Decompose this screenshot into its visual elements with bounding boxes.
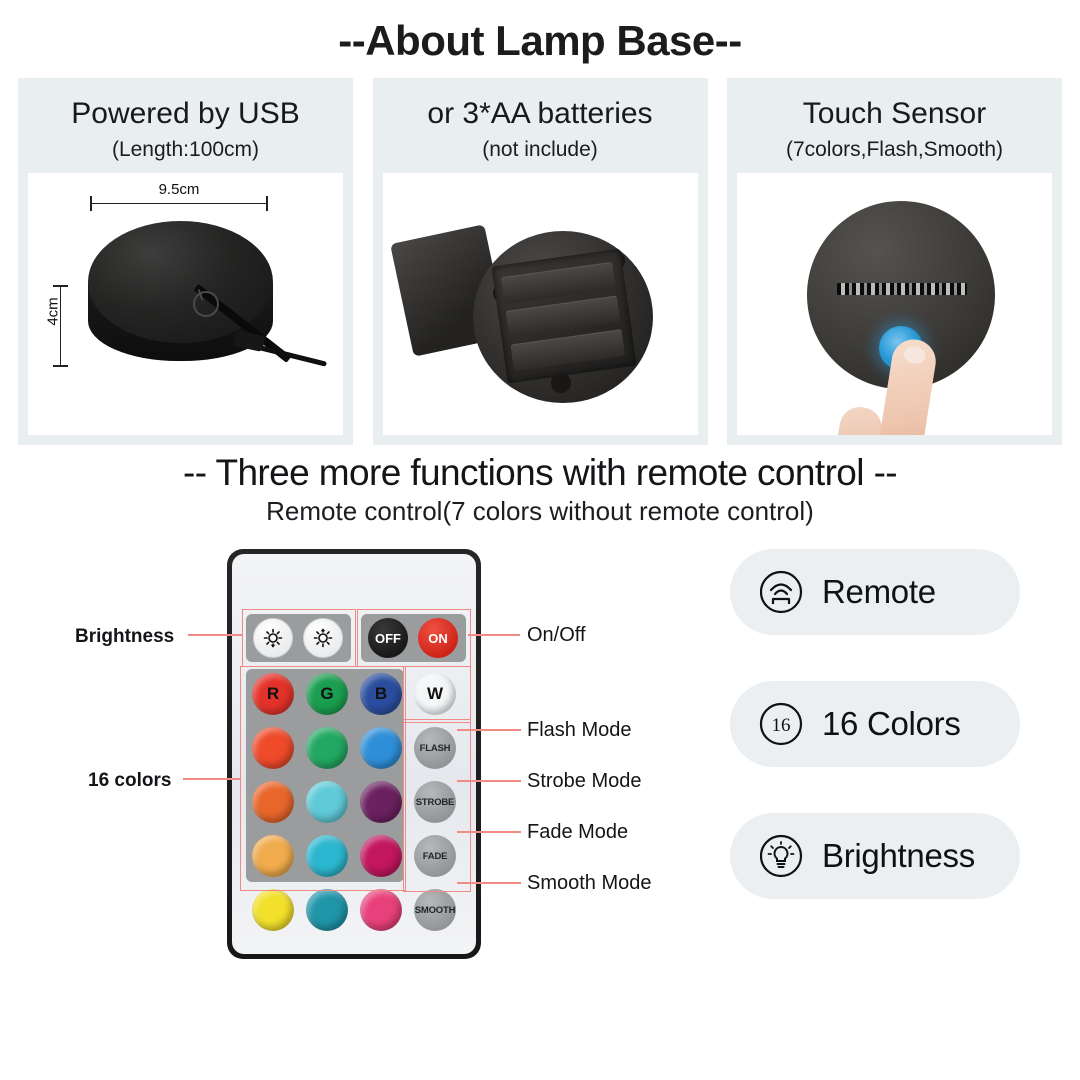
callout-label-flash: Flash Mode bbox=[527, 719, 632, 742]
feature-card-remote[interactable]: Remote bbox=[730, 549, 1020, 635]
callout-label-fade: Fade Mode bbox=[527, 821, 628, 844]
lightbulb-icon bbox=[758, 833, 804, 879]
svg-text:16: 16 bbox=[772, 715, 791, 736]
callout-line-strobe bbox=[457, 780, 521, 782]
battery-compartment-photo bbox=[383, 173, 698, 435]
callout-label-smooth: Smooth Mode bbox=[527, 872, 652, 895]
touch-sensor-photo bbox=[737, 173, 1052, 435]
callout-line-smooth bbox=[457, 882, 521, 884]
color-button-r4-c3[interactable] bbox=[360, 889, 402, 931]
callout-label-strobe: Strobe Mode bbox=[527, 770, 642, 793]
callout-label-onoff: On/Off bbox=[527, 624, 586, 647]
color-button-r4-c2[interactable] bbox=[306, 889, 348, 931]
page-title: --About Lamp Base-- bbox=[0, 0, 1080, 62]
section-subtitle-remote: Remote control(7 colors without remote c… bbox=[0, 497, 1080, 527]
dimension-height-label: 4cm bbox=[45, 281, 62, 341]
panel-title: or 3*AA batteries bbox=[373, 84, 708, 131]
led-strip-slot bbox=[837, 283, 967, 295]
callout-box-16colors bbox=[240, 666, 406, 891]
callout-line-brightness bbox=[188, 634, 243, 636]
lamp-base-usb-photo: 9.5cm 4cm bbox=[28, 173, 343, 435]
remote-signal-icon bbox=[758, 569, 804, 615]
remote-diagram-area: OFF ON R G B W FLASH STROBE FADE SMOOTH … bbox=[0, 533, 1080, 1003]
panel-subtitle: (7colors,Flash,Smooth) bbox=[727, 131, 1062, 172]
callout-box-modes bbox=[403, 719, 471, 892]
feature-card-brightness[interactable]: Brightness bbox=[730, 813, 1020, 899]
feature-panels: Powered by USB (Length:100cm) 9.5cm 4cm … bbox=[0, 78, 1080, 445]
callout-box-onoff bbox=[357, 609, 471, 667]
panel-subtitle: (not include) bbox=[373, 131, 708, 172]
callout-box-brightness bbox=[242, 609, 356, 667]
circle-16-icon: 16 bbox=[758, 701, 804, 747]
hand-second-finger bbox=[831, 403, 885, 434]
dimension-width-line bbox=[90, 203, 268, 204]
panel-title: Powered by USB bbox=[18, 84, 353, 131]
panel-subtitle: (Length:100cm) bbox=[18, 131, 353, 172]
panel-touch-sensor: Touch Sensor (7colors,Flash,Smooth) bbox=[727, 78, 1062, 445]
callout-line-flash bbox=[457, 729, 521, 731]
callout-label-brightness: Brightness bbox=[75, 626, 174, 648]
feature-card-label: Brightness bbox=[822, 837, 975, 875]
lamp-base-top bbox=[88, 221, 273, 343]
remote-faceplate: OFF ON R G B W FLASH STROBE FADE SMOOTH bbox=[232, 554, 476, 954]
panel-title: Touch Sensor bbox=[727, 84, 1062, 131]
dimension-width-label: 9.5cm bbox=[90, 181, 268, 198]
color-button-r4-c1[interactable] bbox=[252, 889, 294, 931]
battery-well bbox=[491, 248, 636, 383]
remote-control[interactable]: OFF ON R G B W FLASH STROBE FADE SMOOTH bbox=[227, 549, 481, 959]
lamp-base-disc bbox=[807, 201, 995, 389]
section-title-remote: -- Three more functions with remote cont… bbox=[0, 453, 1080, 494]
feature-card-label: Remote bbox=[822, 573, 936, 611]
callout-line-fade bbox=[457, 831, 521, 833]
mode-button-smooth[interactable]: SMOOTH bbox=[414, 889, 456, 931]
feature-card-list: Remote 16 16 Colors bbox=[730, 549, 1020, 945]
callout-label-16colors: 16 colors bbox=[88, 770, 171, 792]
panel-aa-batteries: or 3*AA batteries (not include) bbox=[373, 78, 708, 445]
power-symbol-icon bbox=[189, 287, 222, 320]
feature-card-label: 16 Colors bbox=[822, 705, 961, 743]
callout-line-16colors bbox=[183, 778, 240, 780]
feature-card-16-colors[interactable]: 16 16 Colors bbox=[730, 681, 1020, 767]
panel-powered-by-usb: Powered by USB (Length:100cm) 9.5cm 4cm bbox=[18, 78, 353, 445]
callout-line-onoff bbox=[468, 634, 520, 636]
callout-box-white bbox=[403, 666, 471, 723]
